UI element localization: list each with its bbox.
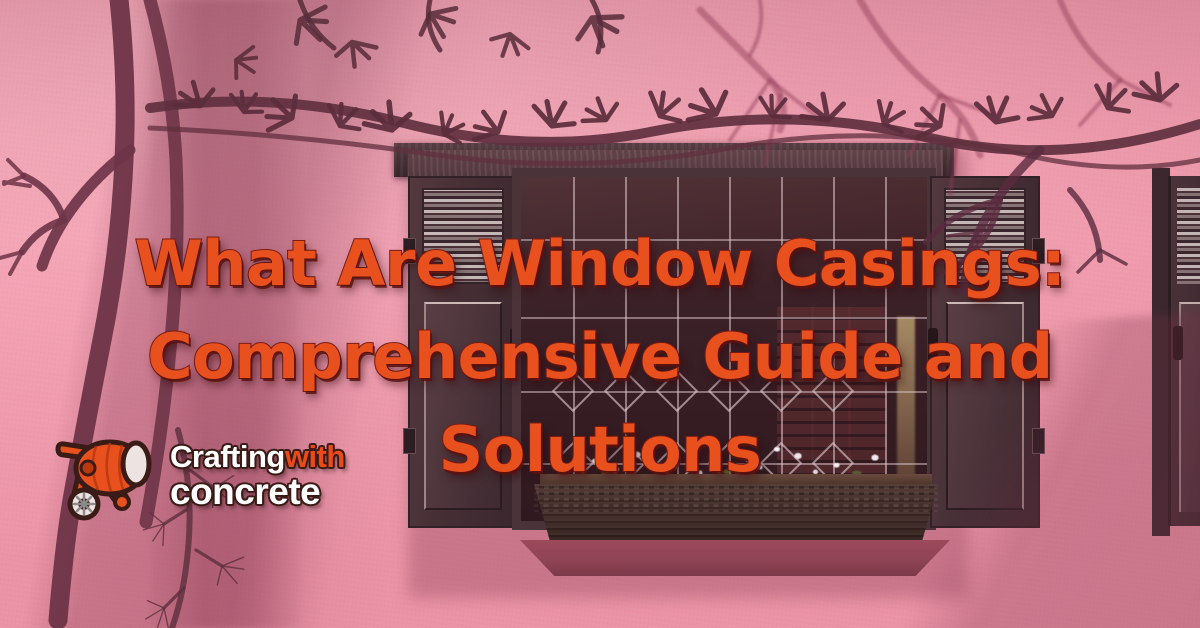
logo-line-two: concrete — [170, 473, 345, 510]
logo-line-one: Craftingwith — [170, 441, 345, 472]
logo-wordmark: Craftingwith concrete — [170, 439, 345, 510]
logo-word-crafting: Crafting — [170, 439, 285, 474]
cement-mixer-icon — [52, 424, 164, 524]
logo-word-with: with — [285, 439, 345, 474]
background-photo — [0, 0, 1200, 628]
tree-branches-overlay — [0, 0, 1200, 628]
blog-header-banner: What Are Window Casings: Comprehensive G… — [0, 0, 1200, 628]
site-logo[interactable]: Craftingwith concrete — [52, 424, 352, 524]
logo-word-concrete: concrete — [170, 471, 320, 512]
